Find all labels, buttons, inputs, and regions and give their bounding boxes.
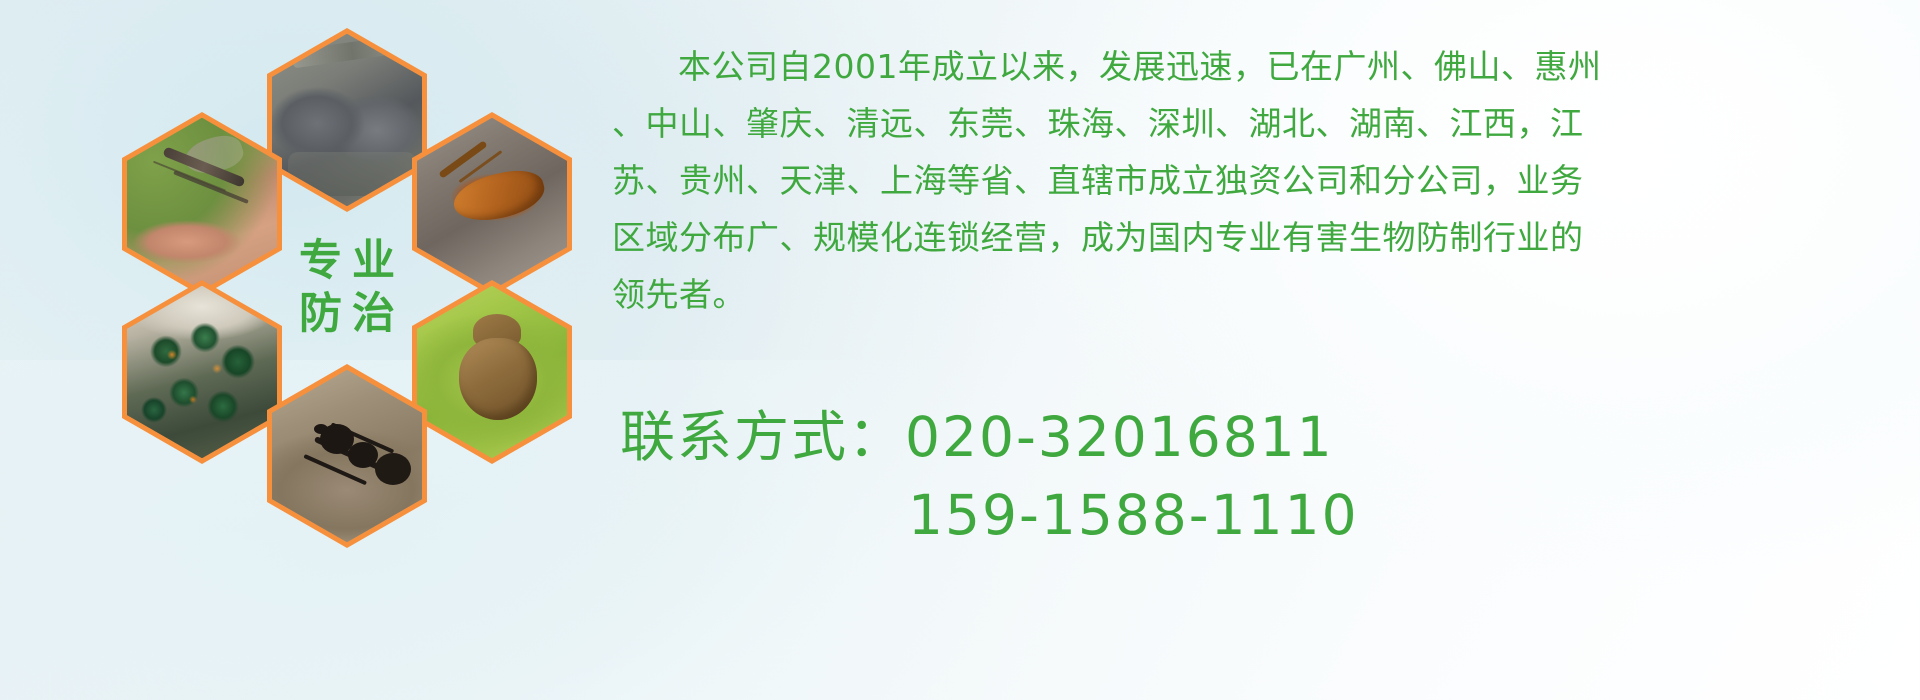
hex-photo-flies-frame — [127, 286, 277, 458]
hex-photo-rats-frame — [272, 34, 422, 206]
contact-primary-line[interactable]: 联系方式：020-32016811 — [620, 398, 1910, 476]
hex-photo-cockroach-frame — [417, 118, 567, 290]
mosquito-photo — [127, 118, 277, 290]
badge-line-2: 防治 — [289, 293, 405, 336]
company-intro-paragraph: 本公司自2001年成立以来，发展迅速，已在广州、佛山、惠州 、中山、肇庆、清远、… — [612, 38, 1912, 323]
flies-photo — [127, 286, 277, 458]
hex-photo-cockroach — [412, 112, 572, 296]
hex-photo-mosquito-frame — [127, 118, 277, 290]
hex-photo-flies — [122, 280, 282, 464]
hex-photo-mosquito — [122, 112, 282, 296]
intro-line-5: 领先者。 — [612, 266, 1912, 323]
ant-photo — [272, 370, 422, 542]
hex-photo-ant-frame — [272, 370, 422, 542]
contact-block: 联系方式：020-32016811 159-1588-1110 — [620, 398, 1910, 554]
badge-line-1: 专业 — [289, 240, 405, 283]
hexagon-photo-cluster: 专业 防治 — [82, 0, 582, 570]
contact-secondary-line[interactable]: 159-1588-1110 — [620, 476, 1910, 554]
banner-content: 本公司自2001年成立以来，发展迅速，已在广州、佛山、惠州 、中山、肇庆、清远、… — [612, 0, 1912, 700]
intro-line-1: 本公司自2001年成立以来，发展迅速，已在广州、佛山、惠州 — [612, 38, 1912, 95]
hex-photo-stinkbug-frame — [417, 286, 567, 458]
intro-line-3: 苏、贵州、天津、上海等省、直辖市成立独资公司和分公司，业务 — [612, 152, 1912, 209]
hex-photo-ant — [267, 364, 427, 548]
hex-photo-stinkbug — [412, 280, 572, 464]
intro-line-2: 、中山、肇庆、清远、东莞、珠海、深圳、湖北、湖南、江西，江 — [612, 95, 1912, 152]
hex-center-badge: 专业 防治 — [267, 196, 427, 380]
stinkbug-photo — [417, 286, 567, 458]
intro-line-4: 区域分布广、规模化连锁经营，成为国内专业有害生物防制行业的 — [612, 209, 1912, 266]
cockroach-photo — [417, 118, 567, 290]
rats-photo — [272, 34, 422, 206]
hex-photo-rats — [267, 28, 427, 212]
